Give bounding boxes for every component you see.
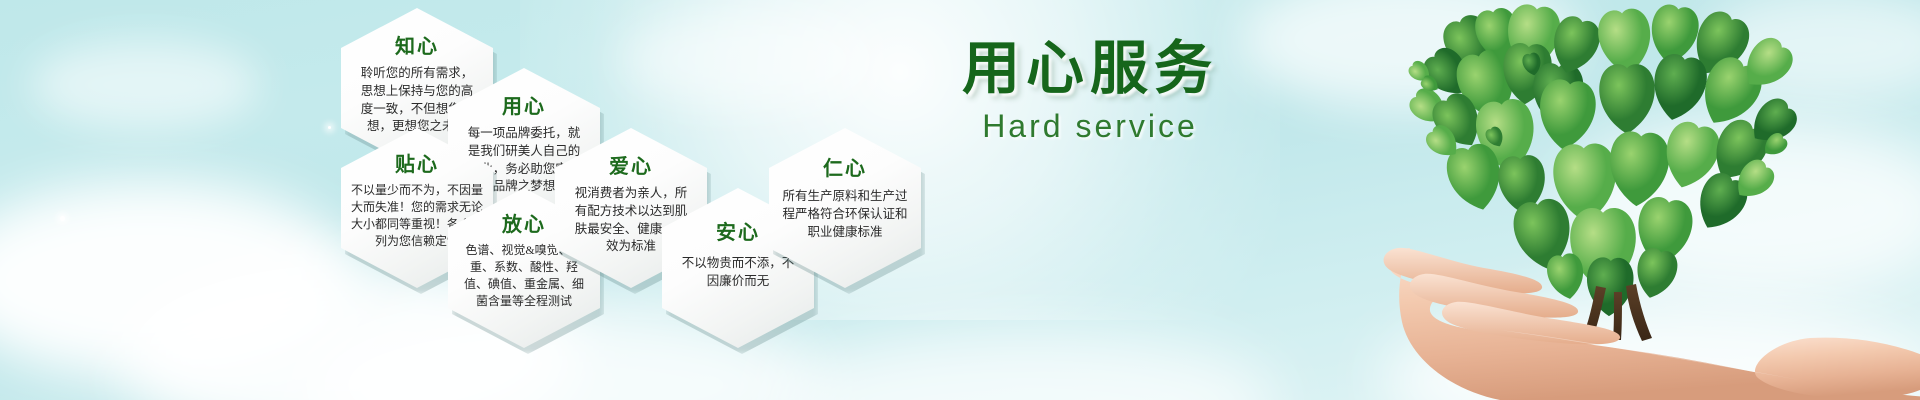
page-title: 用心服务	[960, 40, 1220, 98]
cloud	[0, 180, 360, 380]
page-subtitle: Hard service	[960, 108, 1220, 145]
hex-body-anxin: 不以物贵而不添，不因廉价而无	[679, 255, 797, 291]
hand-icon	[1380, 218, 1920, 400]
hex-title-tiexin: 贴心	[395, 148, 439, 177]
hex-title-renxin: 仁心	[823, 152, 867, 181]
hex-title-anxin: 安心	[716, 216, 760, 245]
service-banner: 知心 聆听您的所有需求，思想上保持与您的高度一致，不但想您所想，更想您之未想 用…	[0, 0, 1920, 400]
banner-title-block: 用心服务 Hard service	[960, 40, 1220, 145]
hex-title-zhixin: 知心	[395, 30, 439, 59]
sparkle-icon	[60, 216, 65, 221]
open-palm-illustration	[1380, 218, 1920, 400]
hex-title-aixin: 爱心	[609, 150, 653, 179]
hex-title-fangxin: 放心	[502, 208, 546, 237]
cloud	[620, 10, 880, 110]
hex-title-yongxin: 用心	[502, 90, 546, 119]
hex-body-renxin: 所有生产原料和生产过程严格符合环保认证和职业健康标准	[782, 188, 908, 241]
cloud	[30, 40, 260, 130]
cloud	[760, 330, 1280, 400]
sparkle-icon	[328, 126, 331, 129]
